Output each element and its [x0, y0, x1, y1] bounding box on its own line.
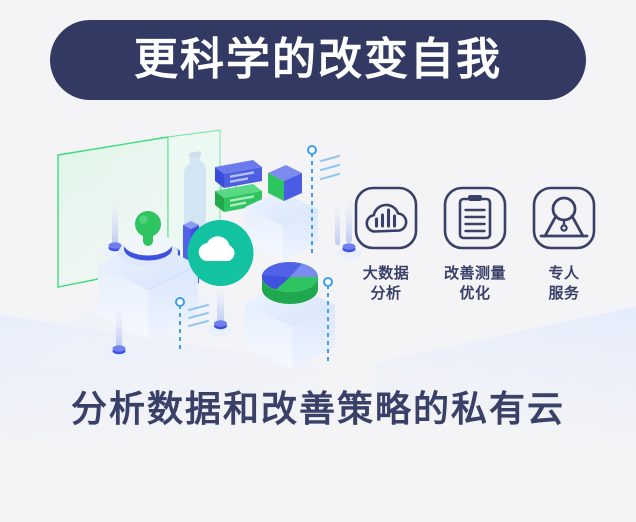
clipboard-icon [443, 186, 507, 250]
feature-item-service[interactable]: 专人 服务 [528, 186, 600, 305]
feature-item-measurement[interactable]: 改善测量 优化 [439, 186, 511, 305]
pie-chart-3d [262, 262, 318, 304]
feature-item-big-data[interactable]: 大数据 分析 [350, 186, 422, 305]
poster-root: 更科学的改变自我 [0, 0, 636, 450]
page-title: 更科学的改变自我 [134, 38, 502, 82]
feature-label-big-data: 大数据 分析 [363, 264, 410, 305]
service-person-icon [532, 186, 596, 250]
feature-label-service: 专人 服务 [548, 264, 579, 305]
footer-tagline: 分析数据和改善策略的私有云 [0, 380, 636, 432]
label-chip-blue [215, 160, 262, 188]
feature-list: 大数据 分析 改善测量 优化 [350, 186, 600, 305]
title-banner: 更科学的改变自我 [50, 20, 586, 100]
hero-illustration [40, 125, 340, 370]
cloud-chart-icon [354, 186, 418, 250]
feature-label-measurement: 改善测量 优化 [444, 264, 506, 305]
